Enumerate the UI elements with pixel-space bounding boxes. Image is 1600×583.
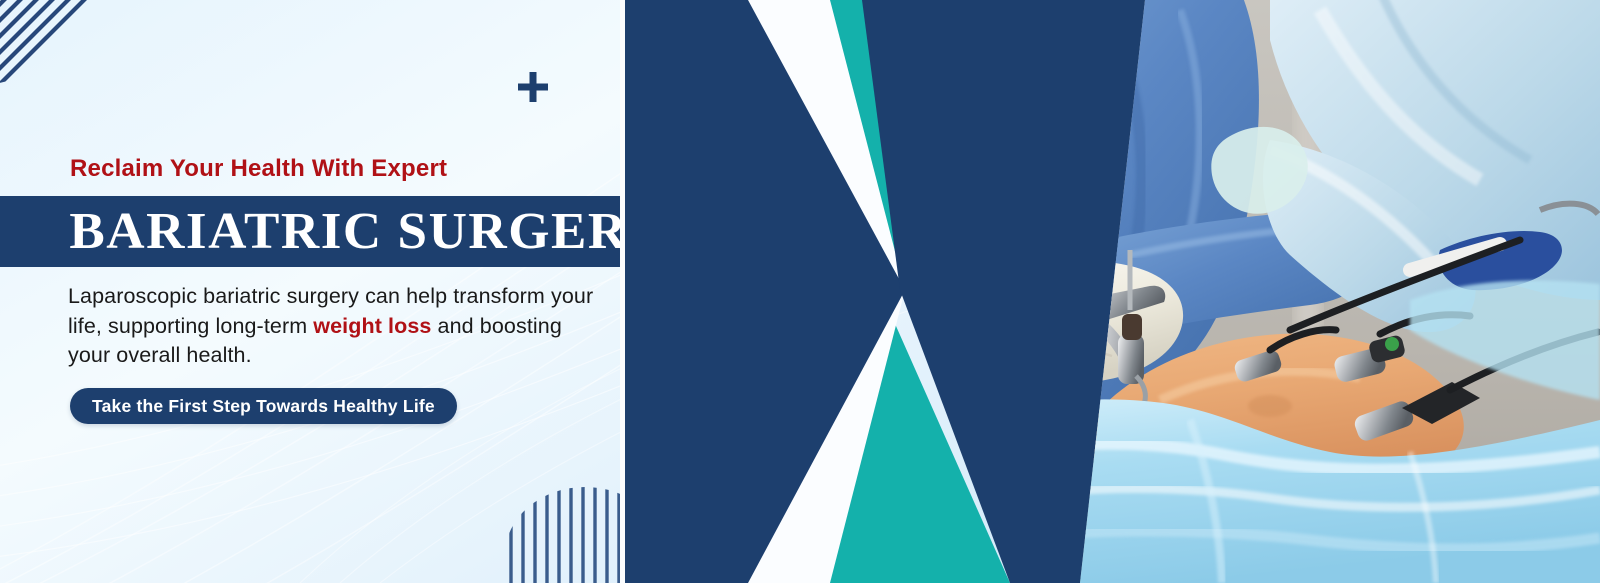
plus-icon — [518, 72, 548, 102]
body-copy: Laparoscopic bariatric surgery can help … — [68, 282, 608, 371]
vertical-line-dome-icon — [505, 487, 665, 583]
cta-button[interactable]: Take the First Step Towards Healthy Life — [70, 388, 457, 424]
body-copy-highlight: weight loss — [313, 314, 431, 338]
striped-quarter-circle-icon — [0, 0, 102, 86]
bariatric-surgery-hero-banner: Reclaim Your Health With Expert BARIATRI… — [0, 0, 1600, 583]
page-title: BARIATRIC SURGERY — [0, 206, 666, 258]
eyebrow-text: Reclaim Your Health With Expert — [70, 155, 447, 183]
surgery-photo-image — [940, 0, 1600, 583]
surgery-photo — [940, 0, 1600, 583]
headline-banner: BARIATRIC SURGERY — [0, 196, 690, 267]
